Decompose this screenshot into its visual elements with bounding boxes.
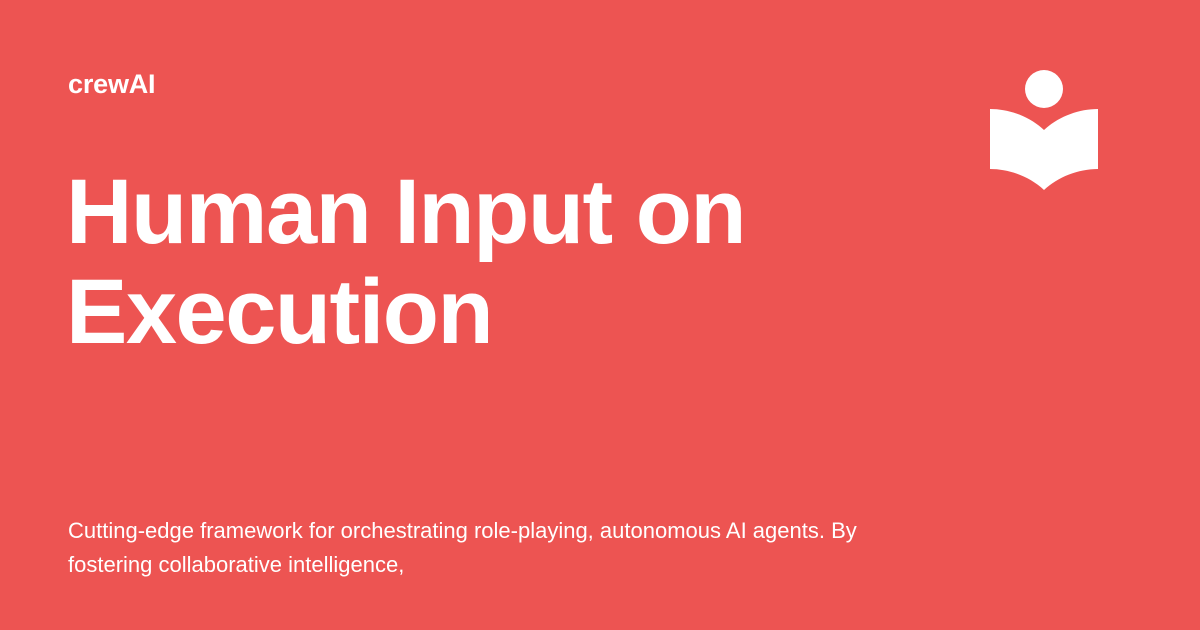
page-description: Cutting-edge framework for orchestrating… [68, 514, 868, 582]
page-title: Human Input on Execution [66, 162, 826, 362]
person-reading-book-icon [988, 66, 1100, 194]
open-graph-card: crewAI Human Input on Execution Cutting-… [0, 0, 1200, 630]
brand-wordmark: crewAI [68, 71, 155, 98]
